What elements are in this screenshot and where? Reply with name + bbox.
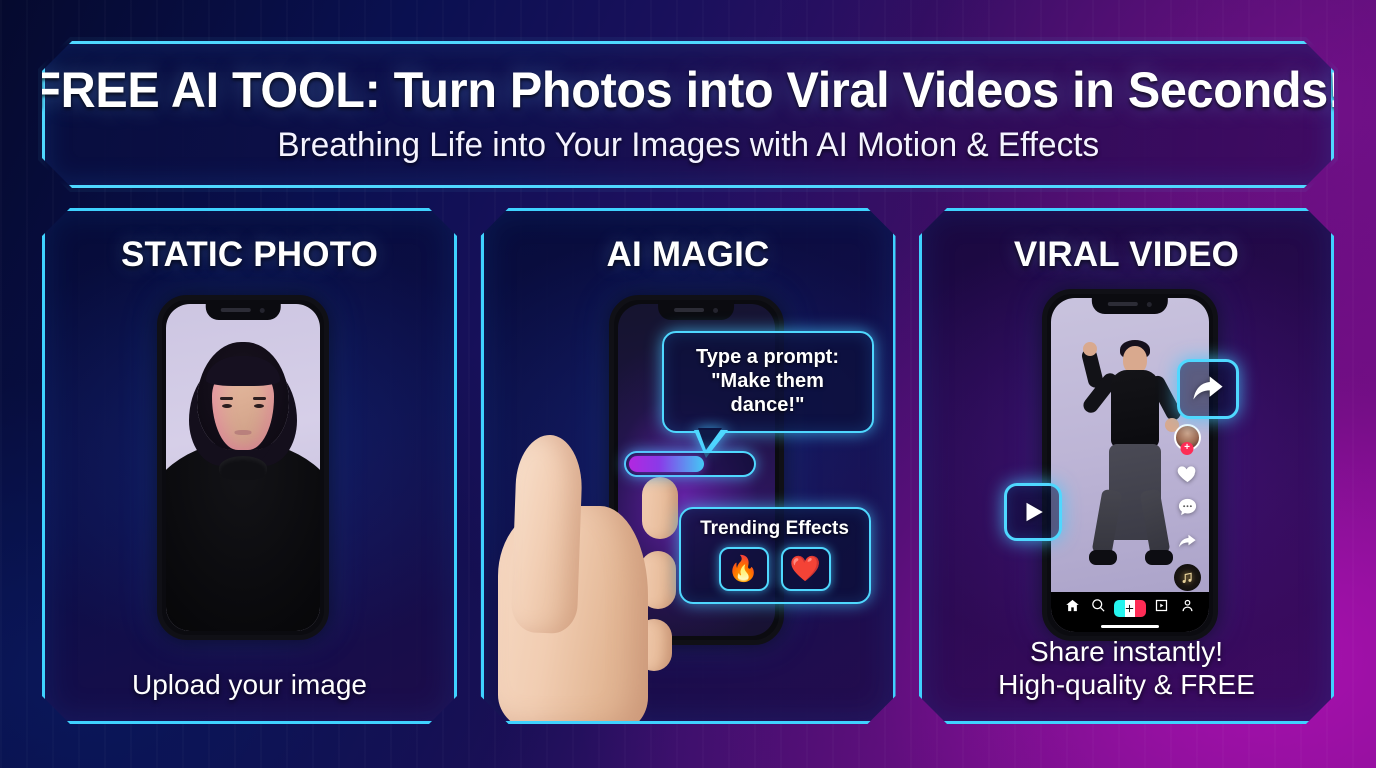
card-viral-video[interactable]: VIRAL VIDEO <box>919 208 1334 724</box>
cards-row: STATIC PHOTO <box>42 208 1334 724</box>
banner-subtitle: Breathing Life into Your Images with AI … <box>277 126 1099 165</box>
comment-bubble-icon[interactable] <box>1176 496 1199 519</box>
trending-effects-title: Trending Effects <box>691 518 859 540</box>
dancer-shoe-right <box>1145 550 1173 565</box>
slider-fill <box>629 456 705 472</box>
phone-mockup-video: + <box>1042 289 1218 641</box>
dancer-torso <box>1111 370 1159 448</box>
portrait-brow-left <box>220 397 233 400</box>
home-icon[interactable] <box>1065 598 1080 618</box>
heart-effect-icon[interactable]: ❤️ <box>781 547 831 591</box>
card-ai-magic[interactable]: AI MAGIC Type a prompt: "Make th <box>481 208 896 724</box>
dancer-leg-right <box>1140 489 1171 556</box>
header-banner: FREE AI TOOL: Turn Photos into Viral Vid… <box>42 41 1334 188</box>
inbox-icon[interactable] <box>1154 598 1169 618</box>
video-side-rail: + <box>1172 424 1202 591</box>
card-caption-viral-video: Share instantly! High-quality & FREE <box>922 635 1331 701</box>
follow-badge-icon[interactable]: + <box>1181 442 1194 455</box>
promo-graphic-root: FREE AI TOOL: Turn Photos into Viral Vid… <box>0 0 1376 768</box>
portrait-mouth <box>235 430 252 435</box>
share-arrow-icon[interactable] <box>1176 530 1199 553</box>
card-static-photo[interactable]: STATIC PHOTO <box>42 208 457 724</box>
notch-speaker-icon <box>1108 302 1138 306</box>
phone-screen-static <box>166 304 320 631</box>
play-button[interactable] <box>1004 483 1062 541</box>
banner-title: FREE AI TOOL: Turn Photos into Viral Vid… <box>32 64 1345 117</box>
music-disc-icon[interactable] <box>1174 564 1201 591</box>
card-title-static-photo: STATIC PHOTO <box>121 235 378 275</box>
notch-camera-icon <box>713 308 718 313</box>
share-button[interactable] <box>1177 359 1239 419</box>
caption-line-1: Share instantly! <box>922 635 1331 668</box>
dancer-fist-left <box>1083 342 1097 356</box>
phone-notch-magic <box>658 300 734 320</box>
phone-mockup-static <box>157 295 329 640</box>
like-heart-icon[interactable] <box>1176 462 1199 485</box>
prompt-bubble-line-1: Type a prompt: <box>676 345 860 369</box>
create-button[interactable] <box>1117 600 1143 617</box>
thumb <box>510 434 583 634</box>
profile-icon[interactable] <box>1180 598 1195 618</box>
phone-screen-video: + <box>1051 298 1209 632</box>
prompt-bubble-line-2: "Make them dance!" <box>676 369 860 417</box>
search-icon[interactable] <box>1091 598 1106 618</box>
creator-avatar[interactable]: + <box>1174 424 1201 451</box>
phone-notch-video <box>1092 294 1168 314</box>
dancer-shoe-left <box>1089 550 1117 565</box>
notch-speaker-icon <box>674 308 704 312</box>
fire-effect-icon[interactable]: 🔥 <box>719 547 769 591</box>
caption-line-2: High-quality & FREE <box>922 668 1331 701</box>
notch-camera-icon <box>260 308 265 313</box>
portrait-collar <box>219 456 267 480</box>
generation-progress-slider[interactable] <box>624 451 756 477</box>
home-indicator-bar <box>1101 625 1159 629</box>
notch-camera-icon <box>1147 302 1152 307</box>
card-title-viral-video: VIRAL VIDEO <box>1014 235 1239 275</box>
effects-row: 🔥 ❤️ <box>691 547 859 591</box>
trending-effects-panel: Trending Effects 🔥 ❤️ <box>679 507 871 604</box>
prompt-speech-bubble: Type a prompt: "Make them dance!" <box>662 331 874 433</box>
card-title-ai-magic: AI MAGIC <box>607 235 770 275</box>
notch-speaker-icon <box>221 308 251 312</box>
portrait-brow-right <box>253 397 266 400</box>
phone-notch-static <box>206 300 281 320</box>
card-caption-static-photo: Upload your image <box>45 668 454 701</box>
